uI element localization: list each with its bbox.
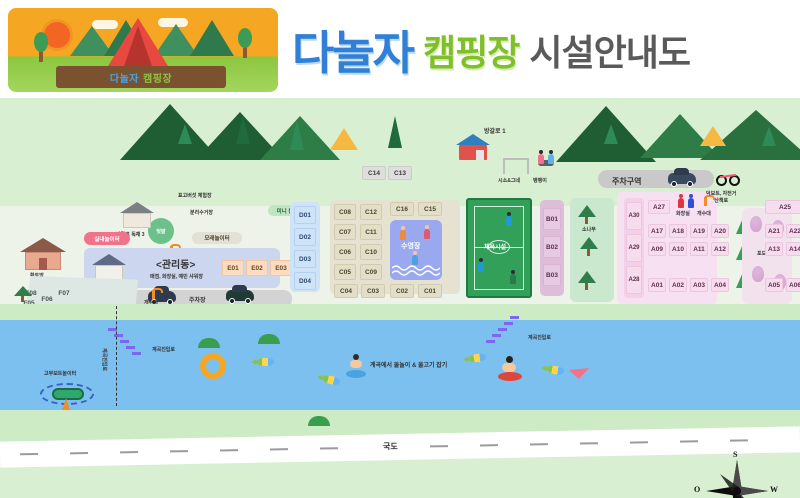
- facility-map: 방갈로 1 시소&그네 뱅뱅이 C14 C13 표고버섯 체험장 분리수거장 미…: [0, 98, 800, 498]
- bangalow-3-house-icon: [120, 202, 154, 228]
- site-a30[interactable]: A30: [626, 202, 642, 230]
- recycling-label: 분리수거장: [190, 209, 213, 216]
- garden-label: 텃밭: [156, 228, 165, 235]
- sink-3-label: 개수대: [697, 210, 711, 217]
- logo-ribbon: 다놀자 캠핑장: [56, 66, 226, 88]
- site-a21[interactable]: A21: [765, 224, 783, 238]
- grape-icon: [752, 266, 764, 282]
- site-c13[interactable]: C13: [388, 166, 412, 180]
- site-c02[interactable]: C02: [390, 284, 414, 298]
- site-a22[interactable]: A22: [786, 224, 800, 238]
- sand-playground-label[interactable]: 모래놀이터: [192, 232, 242, 244]
- bicycle-icon: [716, 174, 740, 186]
- parking-lot-label: 주차장: [189, 295, 206, 304]
- seesaw-swing-label: 시소&그네: [498, 177, 520, 184]
- site-e02[interactable]: E02: [246, 260, 268, 276]
- site-a09[interactable]: A09: [648, 242, 666, 256]
- title-part-blue: 다놀자: [292, 17, 413, 83]
- person-icon: [424, 225, 430, 239]
- campground-logo: 다놀자 캠핑장: [8, 8, 278, 92]
- site-c01[interactable]: C01: [418, 284, 442, 298]
- rubber-boat-icon: [52, 388, 84, 400]
- compass-label-top: S: [733, 450, 737, 459]
- sink-icon: [150, 288, 158, 299]
- site-a25[interactable]: A25: [765, 200, 800, 214]
- compass-label-right: W: [770, 485, 778, 494]
- site-a03[interactable]: A03: [690, 278, 708, 292]
- fish-icon: [256, 358, 274, 366]
- tent-icon: [700, 126, 726, 146]
- pine-forest-label: 소나무: [582, 226, 596, 233]
- compass-label-left: O: [694, 485, 700, 494]
- duckboat-bike-label: 덕보트, 자전거 산책로: [706, 190, 736, 204]
- stairs-icon: [108, 328, 148, 360]
- site-c16[interactable]: C16: [390, 202, 414, 216]
- site-c04[interactable]: C04: [334, 284, 358, 298]
- compass-icon: [700, 454, 774, 498]
- site-c03[interactable]: C03: [361, 284, 385, 298]
- stairs-icon: [486, 316, 526, 346]
- swim-tube-icon: [498, 372, 522, 381]
- person-icon: [400, 226, 406, 240]
- page-header: 다놀자 캠핑장 다놀자 캠핑장 시설안내도: [0, 0, 800, 98]
- tree-icon: [178, 124, 192, 144]
- site-a12[interactable]: A12: [711, 242, 729, 256]
- mountain-icon: [190, 20, 234, 56]
- sports-label: 체육시설: [484, 242, 506, 251]
- compass-rose: S O W N: [700, 454, 774, 498]
- rubber-boat-label: 고무보트놀이터: [44, 370, 76, 377]
- bbangbbangi-label: 뱅뱅이: [533, 177, 547, 184]
- site-c09[interactable]: C09: [360, 264, 382, 280]
- pine-tree-icon: [580, 236, 598, 256]
- site-a20[interactable]: A20: [711, 224, 729, 238]
- person-icon: [506, 212, 512, 226]
- site-c10[interactable]: C10: [360, 244, 382, 260]
- site-a29[interactable]: A29: [626, 234, 642, 262]
- site-a19[interactable]: A19: [690, 224, 708, 238]
- site-a06[interactable]: A06: [786, 278, 800, 292]
- grape-icon: [750, 216, 762, 232]
- site-a02[interactable]: A02: [669, 278, 687, 292]
- site-b03[interactable]: B03: [543, 264, 561, 286]
- paper-boat-icon: [568, 366, 590, 380]
- national-road-label: 국도: [383, 441, 398, 452]
- site-e01[interactable]: E01: [222, 260, 244, 276]
- site-c06[interactable]: C06: [334, 244, 356, 260]
- management-subtitle: 매점, 화장실, 예민 샤워장: [150, 273, 203, 280]
- valley-entry-1-label: 계곡진입로: [152, 346, 175, 353]
- site-d04[interactable]: D04: [294, 272, 316, 290]
- tree-icon: [388, 116, 402, 148]
- tent-icon: [330, 128, 358, 150]
- site-f07[interactable]: F07: [55, 288, 73, 299]
- site-a10[interactable]: A10: [669, 242, 687, 256]
- car-icon: [226, 290, 254, 301]
- person-icon: [478, 258, 484, 272]
- tree-icon: [762, 126, 776, 146]
- tent-icon: [124, 26, 152, 66]
- management-title: <관리동>: [156, 256, 195, 271]
- site-c11[interactable]: C11: [360, 224, 382, 240]
- title-part-green: 캠핑장: [423, 24, 519, 76]
- person-icon: [412, 251, 418, 265]
- path-dotted-line: [116, 306, 117, 406]
- campground-map-page: 다놀자 캠핑장 다놀자 캠핑장 시설안내도: [0, 0, 800, 498]
- water-wave-icon: [392, 264, 440, 276]
- person-icon: [538, 150, 544, 164]
- site-a05[interactable]: A05: [765, 278, 783, 292]
- site-c08[interactable]: C08: [334, 204, 356, 220]
- tree-icon: [236, 116, 250, 144]
- site-a14[interactable]: A14: [786, 242, 800, 256]
- pine-tree-icon: [578, 270, 596, 290]
- site-b02[interactable]: B02: [543, 236, 561, 258]
- site-c12[interactable]: C12: [360, 204, 382, 220]
- restroom-icon: [678, 194, 684, 208]
- pool-label: 수영장: [401, 241, 420, 251]
- site-a13[interactable]: A13: [765, 242, 783, 256]
- bangalow-1-label: 방갈로 1: [484, 126, 506, 135]
- site-a11[interactable]: A11: [690, 242, 708, 256]
- person-icon: [548, 150, 554, 164]
- site-c14[interactable]: C14: [362, 166, 386, 180]
- title-part-gray: 시설안내도: [529, 24, 690, 76]
- site-c05[interactable]: C05: [334, 264, 356, 280]
- indoor-playground-label[interactable]: 실내놀이터: [84, 232, 130, 245]
- site-a28[interactable]: A28: [626, 266, 642, 294]
- site-d02[interactable]: D02: [294, 228, 316, 246]
- tree-icon: [290, 120, 304, 150]
- person-icon: [510, 270, 516, 284]
- bangalow-2-house-icon: [92, 254, 126, 282]
- tree-icon: [238, 28, 252, 58]
- life-ring-icon: [200, 353, 226, 379]
- swim-tube-icon: [346, 370, 366, 378]
- site-a01[interactable]: A01: [648, 278, 666, 292]
- page-title: 다놀자 캠핑장 시설안내도: [292, 16, 690, 84]
- logo-text-green: 캠핑장: [143, 70, 172, 85]
- valley-play-label: 계곡에서 물놀이 & 물고기 잡기: [370, 360, 447, 369]
- site-d03[interactable]: D03: [294, 250, 316, 268]
- site-c07[interactable]: C07: [334, 224, 356, 240]
- logo-text-blue: 다놀자: [110, 70, 139, 85]
- site-e03[interactable]: E03: [270, 260, 292, 276]
- parking-zone-label: 주차구역: [612, 176, 641, 187]
- valley-entry-2-label: 계곡진입로: [528, 334, 551, 341]
- site-a17[interactable]: A17: [648, 224, 666, 238]
- pine-tree-icon: [14, 284, 32, 302]
- site-d01[interactable]: D01: [294, 206, 316, 224]
- bangalow-1-house-icon: [456, 134, 490, 160]
- car-icon: [668, 173, 696, 184]
- site-c15[interactable]: C15: [418, 202, 442, 216]
- site-a27[interactable]: A27: [648, 200, 670, 214]
- swing-icon: [503, 158, 529, 174]
- hwangtobang-house-icon: [20, 238, 66, 270]
- pine-tree-icon: [578, 204, 596, 224]
- site-a18[interactable]: A18: [669, 224, 687, 238]
- site-a04[interactable]: A04: [711, 278, 729, 292]
- tree-icon: [34, 32, 48, 62]
- shiitake-farm-label: 표고버섯 체험장: [178, 192, 212, 199]
- restroom-icon: [688, 194, 694, 208]
- site-b01[interactable]: B01: [543, 208, 561, 230]
- tree-icon: [604, 124, 618, 144]
- valley-path-vertical-label: 계곡진입로: [101, 348, 108, 371]
- restroom-label: 화장실: [676, 210, 690, 217]
